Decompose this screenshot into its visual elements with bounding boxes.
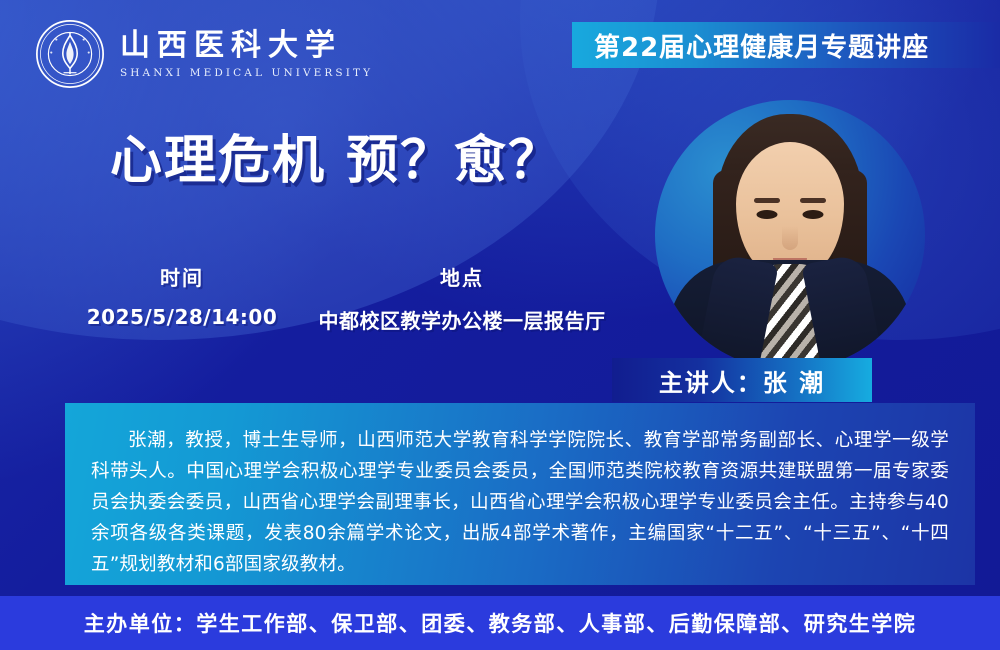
speaker-name-text: 主讲人：张 潮	[659, 363, 825, 398]
lecture-title: 心理危机 预？愈？	[110, 118, 562, 193]
organizers-footer: 主办单位：学生工作部、保卫部、团委、教务部、人事部、后勤保障部、研究生学院	[0, 596, 1000, 650]
event-place-block: 地点 中都校区教学办公楼一层报告厅	[302, 262, 622, 334]
university-logo: 山西医科大学 SHANXI MEDICAL UNIVERSITY	[34, 18, 373, 90]
organizers-text: 主办单位：学生工作部、保卫部、团委、教务部、人事部、后勤保障部、研究生学院	[84, 608, 917, 638]
event-place-label: 地点	[440, 262, 484, 291]
speaker-bio-text: 张潮，教授，博士生导师，山西师范大学教育科学学院院长、教育学部常务副部长、心理学…	[91, 425, 949, 580]
speaker-portrait	[655, 100, 925, 370]
event-time-block: 时间 2025/5/28/14:00	[62, 262, 302, 334]
event-place-value: 中都校区教学办公楼一层报告厅	[319, 305, 606, 334]
portrait-brow-left	[754, 198, 780, 203]
university-name-block: 山西医科大学 SHANXI MEDICAL UNIVERSITY	[120, 29, 373, 79]
portrait-eye-left	[757, 210, 778, 219]
portrait-brow-right	[800, 198, 826, 203]
event-series-banner: 第22届心理健康月专题讲座	[572, 22, 1000, 68]
event-series-banner-text: 第22届心理健康月专题讲座	[594, 27, 929, 64]
event-time-value: 2025/5/28/14:00	[87, 305, 278, 329]
event-time-label: 时间	[160, 262, 204, 291]
portrait-nose	[782, 226, 798, 250]
portrait-eye-right	[803, 210, 824, 219]
university-seal-icon	[34, 18, 106, 90]
event-details: 时间 2025/5/28/14:00 地点 中都校区教学办公楼一层报告厅	[62, 262, 622, 334]
speaker-portrait-circle	[655, 100, 925, 370]
speaker-bio-panel: 张潮，教授，博士生导师，山西师范大学教育科学学院院长、教育学部常务副部长、心理学…	[65, 403, 975, 585]
university-name-en: SHANXI MEDICAL UNIVERSITY	[120, 67, 373, 79]
speaker-name-bar: 主讲人：张 潮	[612, 358, 872, 402]
poster-canvas: 山西医科大学 SHANXI MEDICAL UNIVERSITY 第22届心理健…	[0, 0, 1000, 650]
university-name-cn: 山西医科大学	[120, 29, 373, 62]
